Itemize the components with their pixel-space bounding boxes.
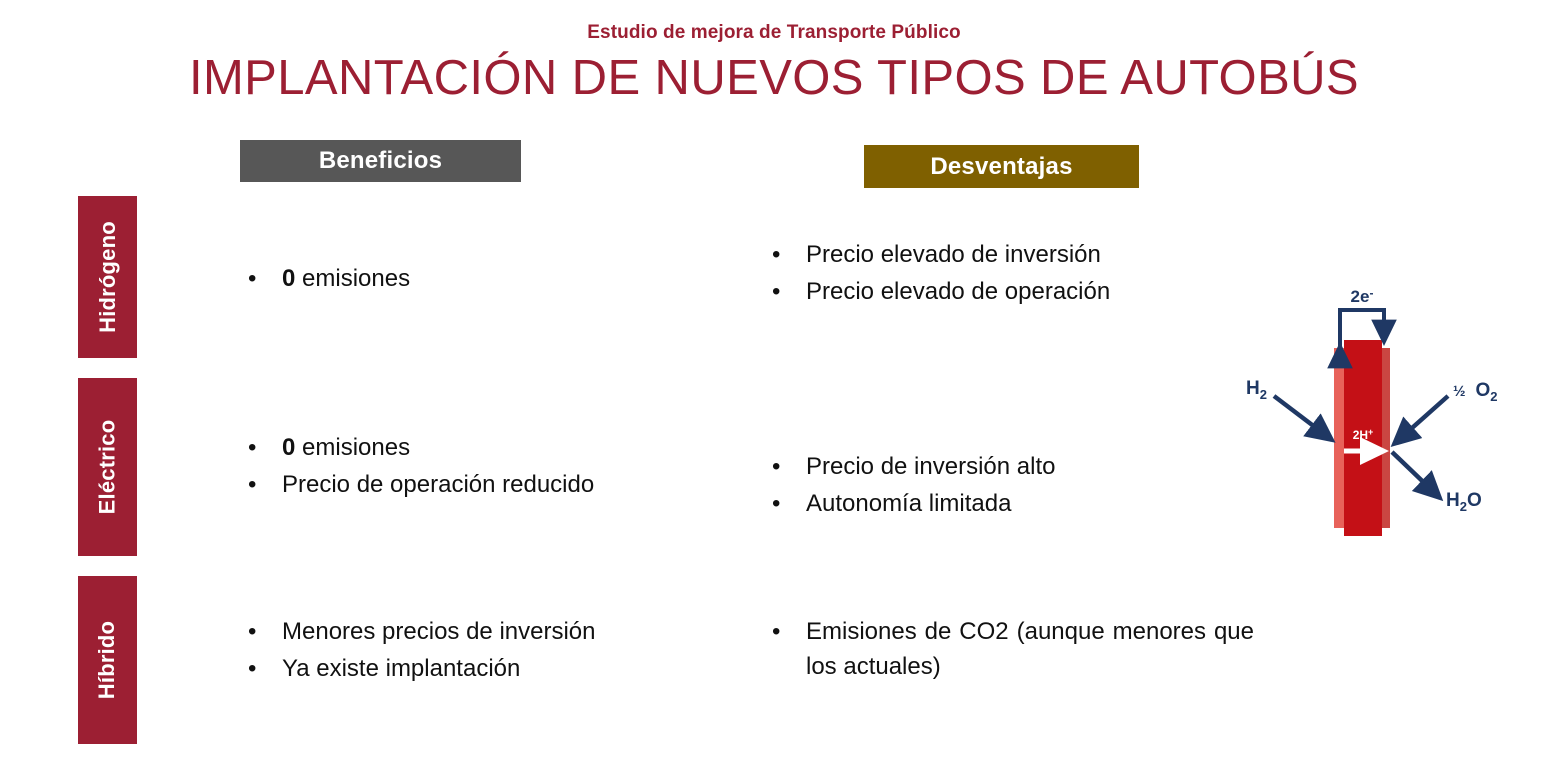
oxygen-label: ½O2 [1453,380,1498,404]
category-bar-electrico: Eléctrico [78,378,137,556]
bullet-text: Precio de inversión alto [806,453,1055,480]
bullet-text: emisiones [295,265,410,292]
bullet-text: Precio elevado de operación [806,278,1110,305]
column-header-benefits: Beneficios [240,140,521,182]
category-label-hibrido: Híbrido [95,621,121,699]
bullet-dot-icon: • [772,238,780,273]
page-title: IMPLANTACIÓN DE NUEVOS TIPOS DE AUTOBÚS [0,50,1548,106]
bullet-text: Menores precios de inversión [282,618,596,645]
list-item: • Ya existe implantación [240,652,720,687]
category-label-electrico: Eléctrico [95,420,121,515]
oxygen-inlet-arrow [1394,396,1448,444]
benefits-list-hidrogeno: • 0 emisiones [240,262,720,299]
benefits-list-electrico: • 0 emisiones • Precio de operación redu… [240,431,720,505]
list-item: • Emisiones de CO2 (aunque menores que l… [764,615,1254,685]
bullet-text: Autonomía limitada [806,490,1011,517]
bullet-dot-icon: • [248,652,256,687]
bullet-dot-icon: • [772,450,780,485]
bullet-dot-icon: • [248,431,256,466]
drawbacks-list-hibrido: • Emisiones de CO2 (aunque menores que l… [764,615,1254,687]
water-outlet-arrow [1392,452,1440,498]
bullet-text: Precio de operación reducido [282,471,594,498]
drawbacks-list-electrico: • Precio de inversión alto • Autonomía l… [764,450,1234,524]
electron-label: 2e- [1351,286,1374,306]
slide-kicker: Estudio de mejora de Transporte Público [0,22,1548,44]
bullet-dot-icon: • [248,468,256,503]
hydrogen-inlet-arrow [1274,396,1332,440]
benefits-list-hibrido: • Menores precios de inversión • Ya exis… [240,615,720,689]
bullet-text: Emisiones de CO2 (aunque menores que los… [806,615,1254,685]
electrode-right-edge [1382,348,1390,528]
bullet-text: Precio elevado de inversión [806,241,1101,268]
category-bar-hibrido: Híbrido [78,576,137,744]
category-label-hidrogeno: Hidrógeno [95,221,121,333]
bullet-emphasis: 0 [282,265,295,292]
fuel-cell-diagram: 2e- H2 2H+ ½O2 H2O [1232,284,1532,552]
bullet-dot-icon: • [772,275,780,310]
hydrogen-label: H2 [1246,378,1267,402]
bullet-dot-icon: • [772,615,780,650]
bullet-text: Ya existe implantación [282,655,520,682]
column-header-drawbacks: Desventajas [864,145,1139,188]
list-item: • Precio de inversión alto [764,450,1234,485]
bullet-emphasis: 0 [282,434,295,461]
bullet-dot-icon: • [248,262,256,297]
water-label: H2O [1446,490,1482,514]
list-item: • 0 emisiones [240,262,720,297]
drawbacks-list-hidrogeno: • Precio elevado de inversión • Precio e… [764,238,1234,312]
list-item: • Autonomía limitada [764,487,1234,522]
bullet-dot-icon: • [248,615,256,650]
list-item: • Menores precios de inversión [240,615,720,650]
list-item: • Precio elevado de inversión [764,238,1234,273]
column-header-drawbacks-label: Desventajas [930,153,1072,181]
list-item: • Precio de operación reducido [240,468,720,503]
bullet-text: emisiones [295,434,410,461]
bullet-dot-icon: • [772,487,780,522]
slide-canvas: Estudio de mejora de Transporte Público … [0,0,1548,768]
list-item: • 0 emisiones [240,431,720,466]
column-header-benefits-label: Beneficios [319,147,442,175]
category-bar-hidrogeno: Hidrógeno [78,196,137,358]
list-item: • Precio elevado de operación [764,275,1234,310]
